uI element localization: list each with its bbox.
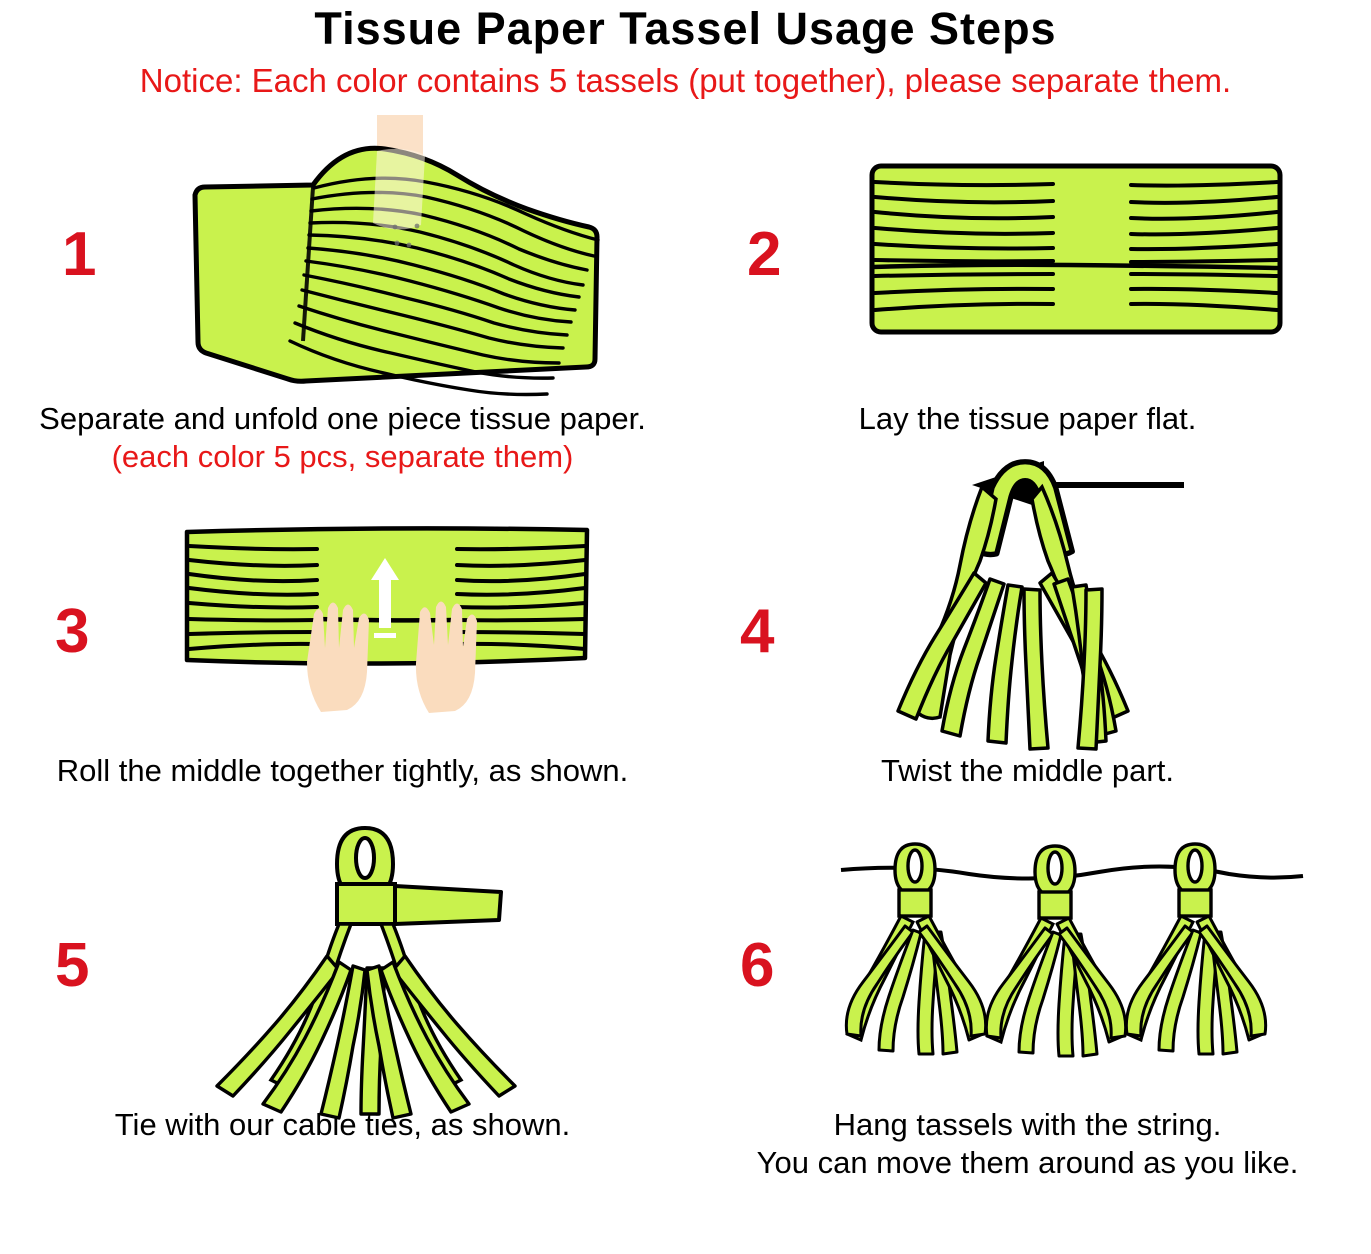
folded-tassel-icon [862, 461, 1282, 751]
page-header: Tissue Paper Tassel Usage Steps Notice: … [0, 0, 1371, 100]
step-1-subcaption: (each color 5 pcs, separate them) [0, 438, 685, 477]
flat-fringed-tissue-icon [866, 160, 1286, 340]
step-row-1: 1 [0, 100, 1371, 400]
captions-row-2: Roll the middle together tightly, as sho… [0, 752, 1371, 826]
step-2-caption: Lay the tissue paper flat. [685, 400, 1370, 437]
step-number-2: 2 [747, 224, 781, 286]
step-number-3: 3 [55, 601, 89, 663]
step-4-caption: Twist the middle part. [685, 752, 1370, 789]
tassel-cable-tie-icon [187, 816, 587, 1116]
caption-cell-5: Tie with our cable ties, as shown. [0, 1106, 685, 1216]
step-cell-1: 1 [0, 100, 685, 400]
caption-cell-6: Hang tassels with the string. You can mo… [685, 1106, 1370, 1216]
notice-text: Notice: Each color contains 5 tassels (p… [0, 62, 1371, 100]
step-6-illustration [774, 834, 1370, 1099]
step-row-3: 5 [0, 826, 1371, 1106]
step-3-caption: Roll the middle together tightly, as sho… [0, 752, 685, 789]
step-number-1: 1 [62, 224, 96, 286]
step-1-caption: Separate and unfold one piece tissue pap… [0, 400, 685, 437]
step-3-illustration [89, 520, 685, 745]
step-5-illustration [89, 816, 685, 1116]
step-6-subcaption: You can move them around as you like. [685, 1144, 1370, 1181]
right-hand-icon [416, 601, 477, 713]
step-cell-6: 6 [685, 826, 1370, 1106]
step-6-caption: Hang tassels with the string. [685, 1106, 1370, 1143]
step-4-illustration [774, 513, 1370, 751]
captions-row-3: Tie with our cable ties, as shown. Hang … [0, 1106, 1371, 1216]
left-hand-icon [307, 602, 369, 712]
step-cell-2: 2 [685, 100, 1370, 400]
step-cell-3: 3 [0, 512, 685, 752]
steps-grid: 1 [0, 100, 1371, 1216]
step-1-illustration [96, 115, 685, 385]
hanging-tassels-icon [837, 834, 1307, 1099]
caption-cell-1: Separate and unfold one piece tissue pap… [0, 400, 685, 512]
caption-cell-4: Twist the middle part. [685, 752, 1370, 826]
caption-cell-3: Roll the middle together tightly, as sho… [0, 752, 685, 826]
page-title: Tissue Paper Tassel Usage Steps [0, 4, 1371, 54]
hands-rolling-middle-icon [177, 520, 597, 745]
step-number-5: 5 [55, 935, 89, 997]
step-number-6: 6 [740, 935, 774, 997]
crumpled-tissue-paper-icon [181, 115, 601, 385]
step-cell-4: 4 [685, 512, 1370, 752]
step-cell-5: 5 [0, 826, 685, 1106]
cable-tie-icon [337, 884, 501, 924]
step-number-4: 4 [740, 601, 774, 663]
step-2-illustration [781, 160, 1370, 340]
step-row-2: 3 [0, 512, 1371, 752]
